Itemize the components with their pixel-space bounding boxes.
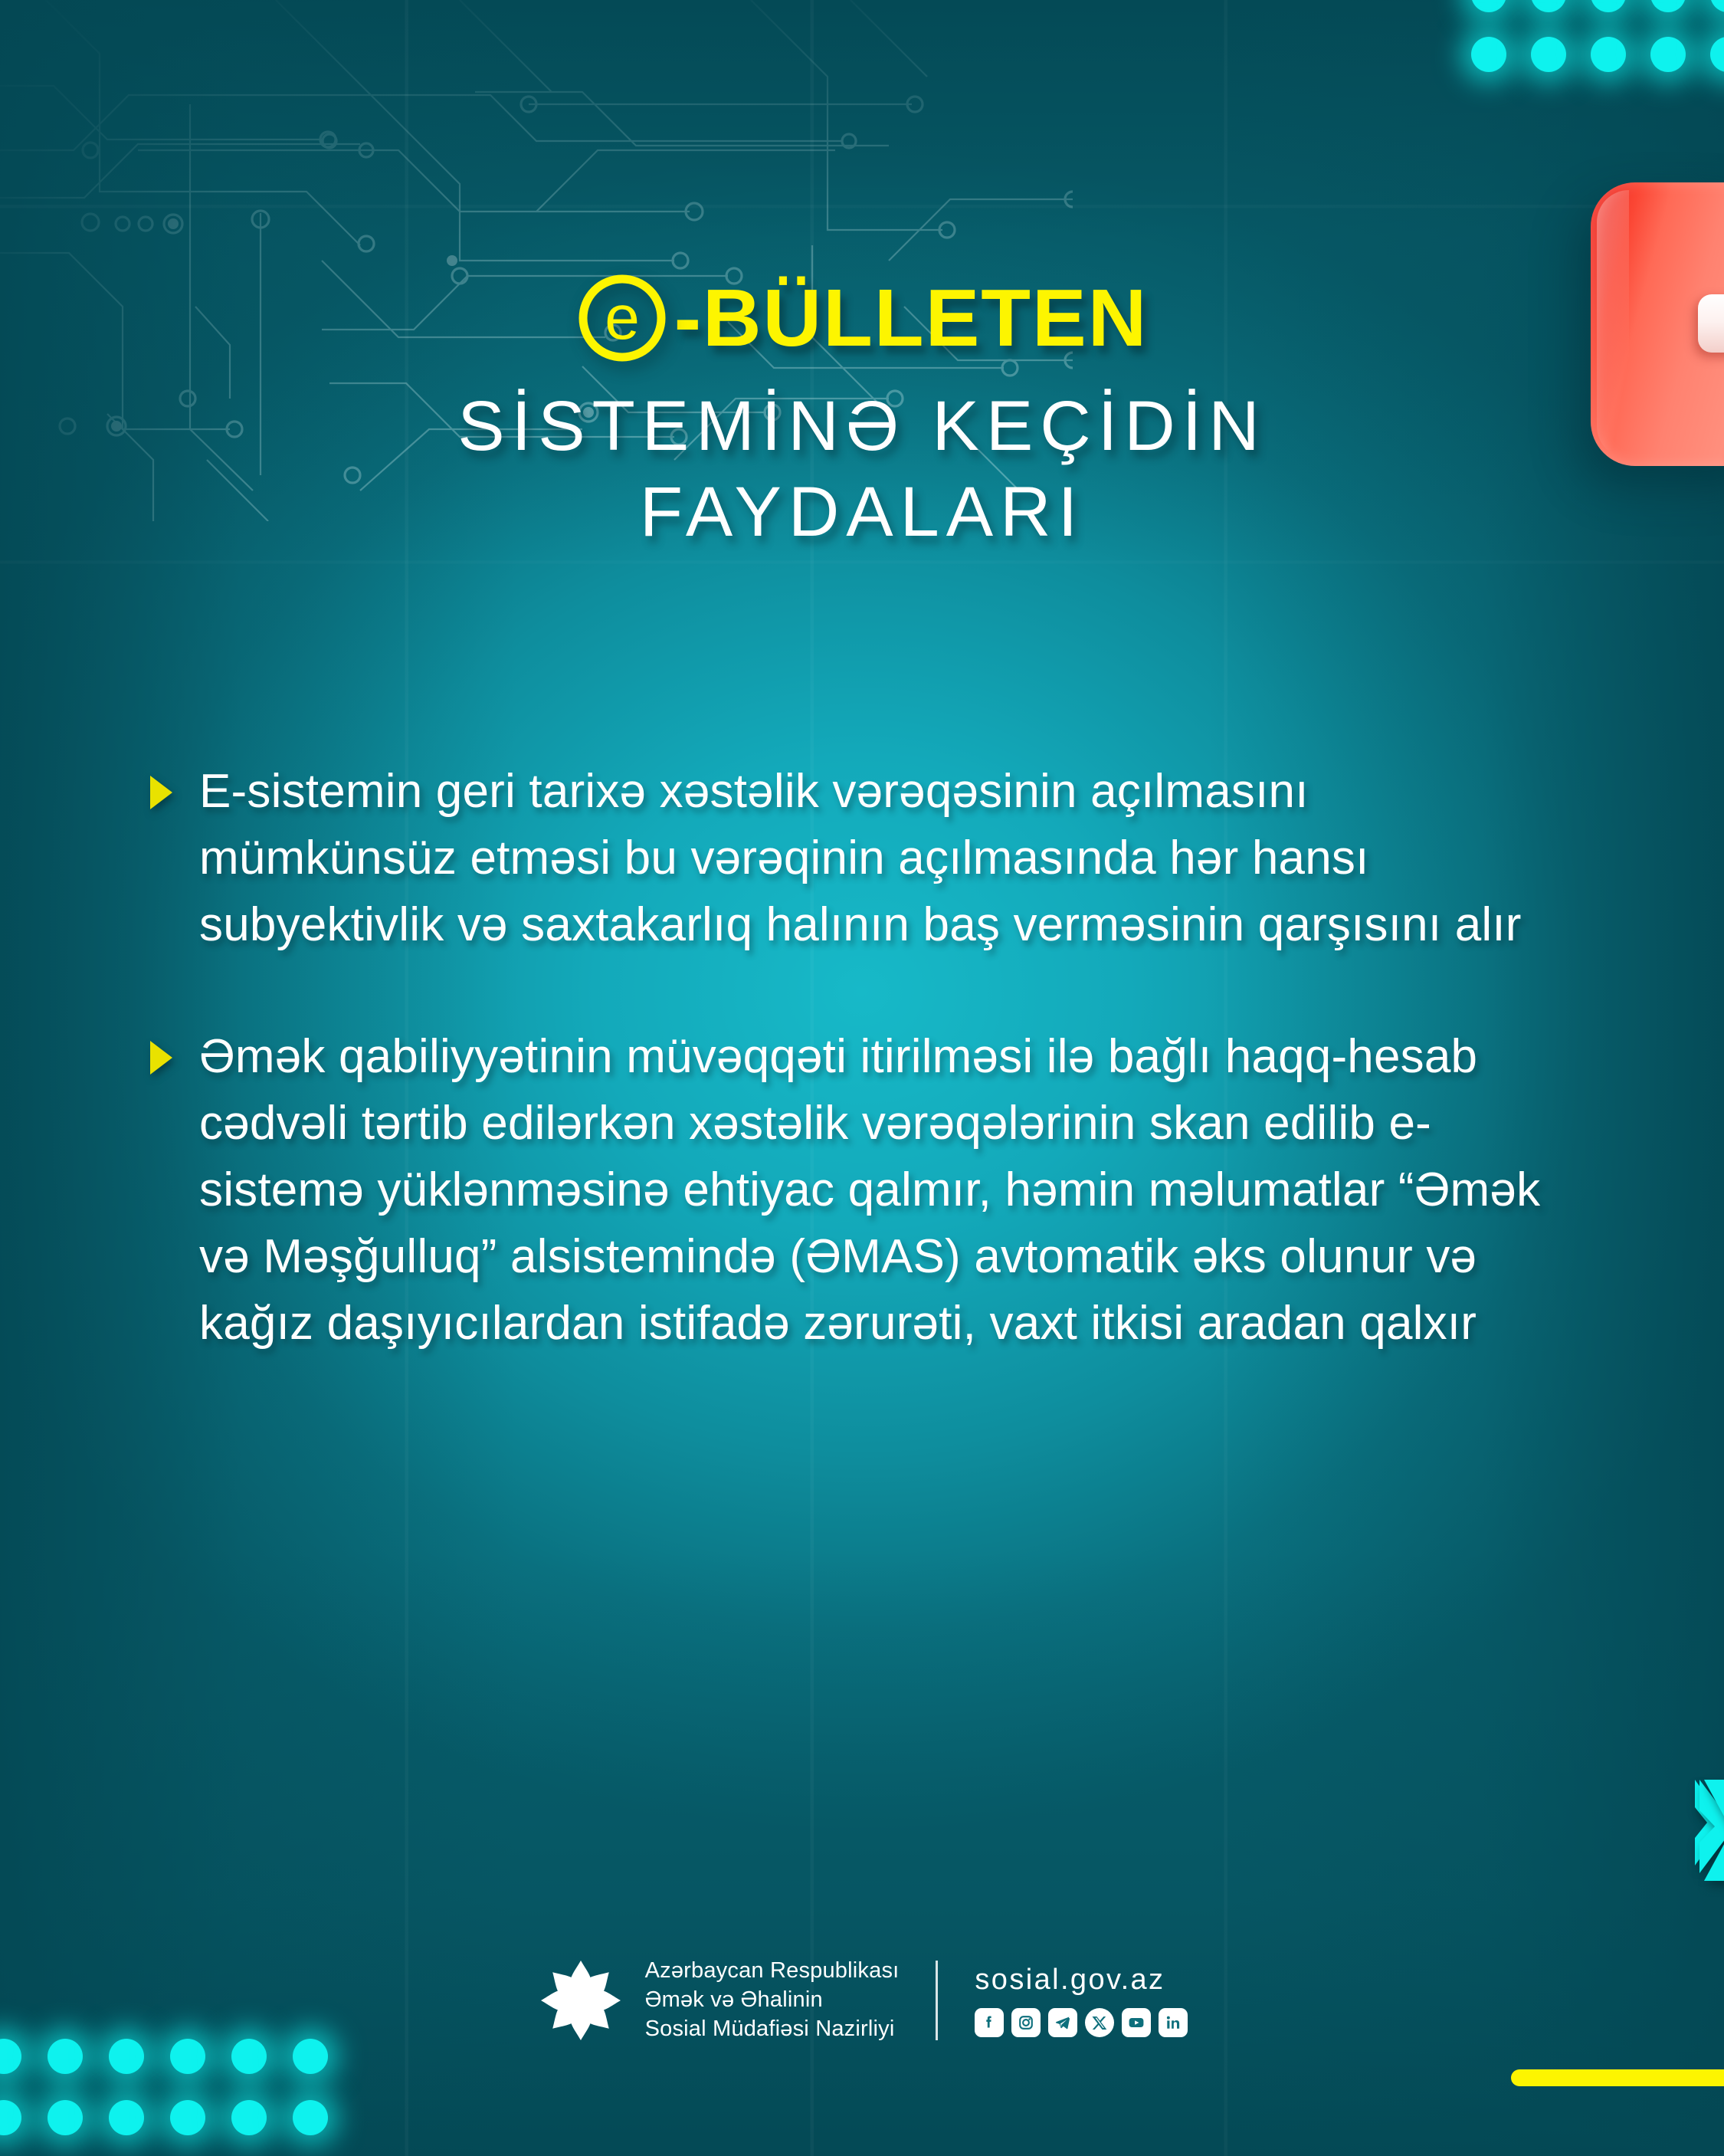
yellow-triangle-bullet-icon	[150, 1041, 173, 1075]
title-block: e -BÜLLETEN SİSTEMİNƏ KEÇİDİN FAYDALARI	[0, 270, 1724, 550]
website-url[interactable]: sosial.gov.az	[975, 1964, 1188, 1997]
ministry-star-emblem-icon	[536, 1956, 625, 2045]
ministry-name: Azərbaycan Respublikası Əmək və Əhalinin…	[645, 1957, 900, 2043]
yellow-triangle-bullet-icon	[150, 776, 173, 809]
ministry-line-1: Azərbaycan Respublikası	[645, 1957, 900, 1986]
footer-bar: Azərbaycan Respublikası Əmək və Əhalinin…	[0, 1956, 1724, 2045]
ministry-line-2: Əmək və Əhalinin	[645, 1986, 900, 2015]
brand-line: e -BÜLLETEN	[0, 270, 1724, 366]
bullet-text: E-sistemin geri tarixə xəstəlik vərəqəsi…	[199, 759, 1571, 958]
brand-title: -BÜLLETEN	[674, 277, 1149, 359]
linkedin-icon[interactable]	[1159, 2008, 1188, 2037]
svg-text:e: e	[605, 283, 640, 353]
instagram-icon[interactable]	[1011, 2008, 1041, 2037]
footer-web-column: sosial.gov.az	[975, 1964, 1188, 2037]
footer-divider	[936, 1961, 938, 2040]
x-twitter-icon[interactable]	[1085, 2008, 1114, 2037]
subtitle-line-2: FAYDALARI	[0, 475, 1724, 550]
yellow-rounded-bar	[1511, 2069, 1724, 2086]
bullet-item: E-sistemin geri tarixə xəstəlik vərəqəsi…	[150, 759, 1606, 958]
telegram-icon[interactable]	[1048, 2008, 1077, 2037]
subtitle-line-1: SİSTEMİNƏ KEÇİDİN	[0, 389, 1724, 464]
bullet-text: Əmək qabiliyyətinin müvəqqəti itirilməsi…	[199, 1024, 1571, 1357]
ministry-line-3: Sosial Müdafiəsi Nazirliyi	[645, 2015, 900, 2044]
bullet-item: Əmək qabiliyyətinin müvəqqəti itirilməsi…	[150, 1024, 1606, 1357]
facebook-icon[interactable]	[975, 2008, 1004, 2037]
cyan-dot-grid-bottomleft	[0, 2039, 339, 2156]
social-links	[975, 2008, 1188, 2037]
bullet-list: E-sistemin geri tarixə xəstəlik vərəqəsi…	[150, 759, 1606, 1423]
poster-canvas: e -BÜLLETEN SİSTEMİNƏ KEÇİDİN FAYDALARI …	[0, 0, 1724, 2156]
youtube-icon[interactable]	[1122, 2008, 1151, 2037]
cyan-dot-grid-topright	[1471, 0, 1724, 83]
circled-lowercase-e-icon: e	[576, 272, 668, 364]
